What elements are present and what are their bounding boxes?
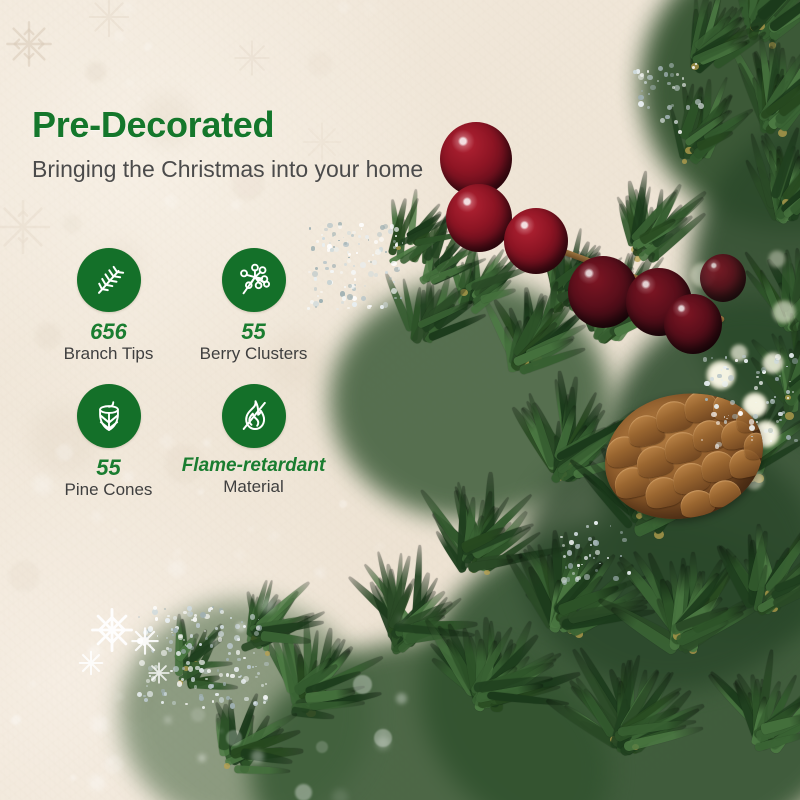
- glitter-speck: [775, 358, 779, 362]
- glitter-speck: [613, 576, 618, 581]
- glitter-speck: [756, 371, 760, 375]
- pine-needle: [470, 277, 514, 315]
- pine-needle: [473, 254, 511, 299]
- pine-needle: [764, 552, 800, 609]
- glitter-speck: [230, 703, 236, 709]
- glitter-speck: [670, 73, 674, 77]
- pine-needle: [554, 391, 600, 478]
- pine-needle: [683, 600, 698, 651]
- glitter-speck: [768, 428, 773, 433]
- pine-needle: [750, 427, 761, 479]
- pine-needle: [585, 258, 598, 318]
- pine-needle: [240, 714, 272, 765]
- pine-needle: [633, 722, 688, 748]
- pine-needle: [513, 294, 551, 359]
- pine-needle: [566, 678, 622, 741]
- pine-needle: [738, 420, 757, 468]
- glitter-speck: [215, 693, 219, 697]
- pine-needle: [764, 75, 800, 136]
- pine-needle: [607, 285, 670, 322]
- pine-needle: [470, 524, 523, 560]
- pine-needle: [554, 405, 580, 461]
- glitter-speck: [255, 676, 258, 679]
- glitter-speck: [562, 580, 567, 585]
- glitter-speck: [309, 227, 312, 230]
- glitter-speck: [204, 630, 206, 632]
- pine-needle: [749, 404, 788, 461]
- pine-needle: [614, 195, 648, 250]
- snow-dot: [102, 205, 106, 209]
- pine-needle: [738, 425, 761, 482]
- glitter-speck: [599, 563, 601, 565]
- pine-needle: [629, 699, 658, 754]
- glitter-speck: [161, 689, 164, 692]
- glitter-speck: [374, 273, 379, 278]
- pine-needle: [693, 6, 728, 70]
- pine-needle: [608, 297, 655, 337]
- glitter-speck: [396, 242, 398, 244]
- pine-needle: [703, 6, 741, 66]
- glitter-speck: [316, 240, 319, 243]
- pine-needle: [544, 554, 565, 629]
- pine-needle: [304, 669, 361, 696]
- pine-needle: [469, 520, 514, 570]
- pine-needle: [392, 553, 405, 640]
- snow-dot: [11, 715, 21, 725]
- pine-needle: [649, 189, 709, 244]
- pine-needle: [575, 595, 629, 636]
- glitter-speck: [188, 666, 193, 671]
- pine-needle: [763, 74, 788, 122]
- pine-needle: [429, 260, 474, 285]
- pine-needle: [637, 231, 675, 262]
- pine-needle: [614, 464, 644, 511]
- glitter-speck: [167, 615, 169, 617]
- glitter-speck: [701, 439, 703, 441]
- glitter-speck: [565, 566, 568, 569]
- glitter-speck: [368, 239, 370, 241]
- glitter-speck: [220, 611, 222, 613]
- pine-needle: [523, 589, 573, 629]
- glitter-speck: [176, 651, 181, 656]
- pine-needle: [692, 37, 751, 67]
- pine-needle: [616, 554, 681, 632]
- pine-needle: [691, 602, 748, 634]
- pine-needle: [612, 252, 636, 321]
- pine-needle: [549, 255, 593, 292]
- glitter-speck: [255, 666, 257, 668]
- berry-stem: [488, 205, 536, 265]
- pine-needle: [756, 0, 800, 21]
- glitter-speck: [181, 678, 184, 681]
- pine-needle: [785, 269, 800, 319]
- pine-needle: [691, 97, 730, 162]
- pine-needle: [424, 225, 435, 272]
- glitter-speck: [148, 666, 153, 671]
- glitter-speck: [578, 544, 580, 546]
- pine-needle: [572, 420, 618, 480]
- pine-needle: [764, 551, 800, 604]
- pine-needle: [743, 415, 800, 467]
- pine-needle: [764, 56, 800, 117]
- pine-needle: [572, 407, 639, 468]
- pine-needle: [709, 23, 749, 63]
- pine-needle: [254, 580, 311, 632]
- pine-needle: [770, 0, 787, 39]
- pine-needle: [452, 486, 489, 565]
- pine-needle: [695, 10, 710, 61]
- pine-needle: [635, 208, 662, 258]
- pine-needle: [250, 609, 316, 643]
- pine-needle: [475, 639, 488, 698]
- glitter-speck: [139, 660, 145, 666]
- glitter-speck: [358, 235, 362, 239]
- glitter-speck: [572, 572, 575, 575]
- glitter-speck: [593, 557, 595, 559]
- pine-needle: [403, 571, 434, 643]
- feature-row: 55 Pine Cones Flame-retardant Material: [36, 384, 326, 500]
- glitter-speck: [338, 225, 342, 229]
- pine-needle: [761, 673, 799, 739]
- glitter-speck: [567, 550, 573, 556]
- pine-needle: [189, 680, 238, 691]
- glitter-speck: [147, 691, 152, 696]
- pine-needle: [680, 85, 697, 139]
- pine-needle: [419, 261, 452, 285]
- pine-needle: [678, 558, 693, 632]
- pine-needle: [429, 655, 480, 697]
- pine-needle: [471, 271, 512, 305]
- glitter-speck: [775, 377, 779, 381]
- pine-needle: [615, 669, 677, 750]
- pine-needle: [754, 0, 800, 25]
- glitter-speck: [264, 662, 268, 666]
- glitter-speck: [238, 676, 240, 678]
- snow-dot: [124, 22, 129, 27]
- pine-needle: [477, 683, 560, 709]
- pine-needle: [240, 748, 293, 767]
- pine-needle: [407, 189, 419, 245]
- pine-needle: [780, 143, 800, 205]
- pine-cone-icon: [90, 397, 128, 435]
- pine-needle: [684, 95, 705, 140]
- pine-needle: [524, 564, 562, 629]
- glitter-speck: [348, 257, 350, 259]
- pine-needle: [695, 5, 736, 58]
- glitter-speck: [263, 695, 268, 700]
- pine-needle: [243, 723, 284, 763]
- pine-needle: [677, 570, 708, 642]
- pine-needle: [684, 108, 733, 146]
- pine-needle: [422, 248, 436, 283]
- pine-needle: [691, 32, 749, 64]
- glitter-speck: [199, 668, 204, 673]
- glitter-speck: [394, 227, 399, 232]
- pine-needle: [754, 729, 800, 752]
- pine-needle: [250, 592, 282, 637]
- glitter-speck: [581, 564, 583, 566]
- glitter-speck: [775, 354, 781, 360]
- pine-needle: [731, 443, 780, 485]
- glitter-speck: [394, 267, 400, 273]
- pine-needle: [602, 273, 618, 340]
- snow-dot: [121, 1, 134, 14]
- pine-needle: [466, 259, 477, 304]
- pine-needle: [533, 543, 566, 627]
- pine-needle: [775, 158, 784, 207]
- pine-needle: [689, 120, 705, 159]
- pine-needle: [766, 45, 781, 120]
- pine-needle: [670, 596, 712, 647]
- pine-needle: [291, 700, 364, 712]
- glitter-speck: [230, 617, 232, 619]
- glitter-speck: [261, 684, 263, 686]
- pine-needle: [420, 290, 429, 329]
- pine-needle: [779, 61, 800, 115]
- pine-needle: [768, 676, 800, 755]
- pine-needle: [395, 577, 440, 649]
- pine-needle: [425, 281, 434, 322]
- pine-needle: [605, 443, 639, 525]
- glitter-speck: [726, 418, 728, 420]
- pine-needle: [473, 253, 499, 298]
- glitter-speck: [193, 617, 197, 621]
- pine-needle: [645, 206, 656, 247]
- pine-needle: [605, 247, 640, 330]
- pine-needle: [751, 696, 769, 746]
- pine-needle: [608, 463, 648, 521]
- pine-needle: [515, 313, 578, 365]
- glitter-speck: [711, 357, 713, 359]
- glitter-speck: [563, 555, 566, 558]
- red-berry: [504, 208, 568, 274]
- red-berry: [700, 254, 746, 302]
- glitter-speck: [644, 81, 647, 84]
- pine-needle: [761, 63, 771, 117]
- snow-dot: [198, 754, 206, 762]
- glitter-speck: [144, 698, 148, 702]
- glitter-speck: [753, 414, 758, 419]
- pine-needle: [639, 186, 652, 242]
- glitter-speck: [367, 305, 371, 309]
- pine-needle: [767, 172, 784, 222]
- silver-glitter-tip: [136, 610, 256, 705]
- pine-needle: [460, 495, 512, 571]
- glitter-speck: [774, 359, 779, 364]
- pine-needle: [585, 457, 644, 519]
- glitter-speck: [155, 617, 158, 620]
- pine-needle: [756, 680, 783, 733]
- pine-needle: [174, 631, 202, 663]
- glitter-speck: [183, 611, 187, 615]
- glitter-speck: [724, 416, 726, 418]
- pine-needle: [613, 261, 647, 321]
- red-berry: [664, 294, 722, 354]
- glitter-speck: [170, 670, 173, 673]
- pine-needle: [635, 468, 695, 516]
- glitter-speck: [168, 648, 172, 652]
- pine-needle: [666, 560, 690, 649]
- pine-needle: [593, 281, 604, 340]
- pine-needle: [287, 640, 323, 706]
- pine-needle: [270, 634, 297, 694]
- glitter-speck: [185, 703, 187, 705]
- pine-needle: [732, 425, 744, 474]
- pine-needle: [611, 274, 661, 332]
- pine-needle: [777, 347, 796, 407]
- glitter-speck: [343, 237, 344, 238]
- pine-needle: [762, 0, 775, 29]
- glitter-speck: [774, 396, 776, 398]
- pine-needle: [731, 430, 769, 467]
- pine-needle: [755, 165, 788, 216]
- glitter-speck: [340, 271, 343, 274]
- glitter-speck: [219, 697, 225, 703]
- pine-needle: [772, 567, 800, 610]
- glitter-speck: [620, 555, 622, 557]
- pine-needle: [743, 250, 791, 318]
- pine-needle: [493, 669, 581, 706]
- glitter-speck: [759, 381, 764, 386]
- pine-needle: [764, 257, 800, 312]
- glitter-speck: [211, 684, 214, 687]
- pine-needle: [743, 424, 754, 481]
- glitter-speck: [175, 626, 179, 630]
- pine-needle: [399, 217, 449, 246]
- pine-needle: [481, 262, 520, 304]
- pine-needle: [227, 699, 238, 756]
- glitter-speck: [352, 287, 356, 291]
- feature-pine-cones: 55 Pine Cones: [36, 384, 181, 500]
- glitter-speck: [669, 63, 674, 68]
- pine-needle: [477, 509, 531, 573]
- glitter-speck: [338, 222, 342, 226]
- pine-needle: [633, 502, 696, 538]
- pine-needle: [480, 617, 499, 700]
- pine-needle: [713, 6, 744, 49]
- pine-needle: [695, 110, 723, 162]
- glitter-speck: [173, 628, 178, 633]
- glitter-speck: [253, 652, 255, 654]
- pine-needle: [769, 333, 800, 391]
- glitter-speck: [256, 626, 259, 629]
- pine-needle: [760, 0, 769, 25]
- pine-needle: [465, 635, 493, 709]
- pine-needle: [388, 555, 413, 629]
- pine-needle: [716, 543, 763, 603]
- glitter-speck: [182, 667, 185, 670]
- glitter-speck: [682, 77, 684, 79]
- snowflake-icon: [128, 624, 162, 658]
- pine-needle: [766, 59, 800, 123]
- pine-needle: [689, 27, 720, 68]
- pine-needle: [573, 264, 636, 310]
- pine-needle: [623, 723, 704, 752]
- pine-needle: [691, 10, 700, 71]
- glitter-speck: [672, 86, 675, 89]
- pine-needle: [748, 530, 771, 592]
- glitter-speck: [724, 420, 728, 424]
- glitter-speck: [385, 271, 388, 274]
- pine-needle: [430, 212, 452, 260]
- pine-needle: [755, 68, 771, 134]
- glitter-speck: [636, 69, 641, 74]
- pine-needle: [406, 627, 460, 644]
- glitter-speck: [721, 369, 723, 371]
- pine-needle: [245, 745, 304, 759]
- glitter-speck: [641, 90, 643, 92]
- pine-needle: [648, 188, 680, 242]
- glitter-speck: [166, 637, 168, 639]
- background-snowflake-icon: [86, 0, 132, 40]
- glitter-speck: [716, 421, 720, 425]
- pine-needle: [616, 202, 638, 247]
- pine-needle: [375, 576, 407, 634]
- glitter-speck: [660, 118, 665, 123]
- pine-needle: [762, 85, 781, 132]
- glitter-speck: [674, 85, 680, 91]
- feature-label: Material: [223, 477, 283, 497]
- pine-needle: [428, 276, 453, 337]
- pine-needle: [524, 322, 587, 359]
- pine-needle: [671, 610, 723, 636]
- pine-needle: [753, 0, 790, 24]
- pine-needle: [786, 277, 800, 333]
- feature-value: Flame-retardant: [182, 456, 326, 476]
- pine-needle: [396, 219, 407, 260]
- pine-needle: [778, 166, 800, 225]
- pine-needle: [794, 291, 800, 323]
- pine-needle: [488, 655, 559, 706]
- glitter-speck: [143, 695, 146, 698]
- pine-needle: [649, 211, 659, 261]
- pine-needle: [524, 543, 567, 615]
- pine-needle: [578, 717, 637, 756]
- pine-needle: [784, 343, 800, 397]
- pine-needle: [690, 0, 712, 61]
- glitter-speck: [640, 73, 644, 77]
- pine-needle: [761, 689, 800, 732]
- pine-needle: [757, 686, 768, 742]
- pine-needle: [301, 616, 314, 693]
- pine-needle: [262, 610, 268, 652]
- pine-needle: [560, 269, 604, 328]
- pine-needle: [487, 621, 496, 687]
- pine-needle: [243, 744, 283, 760]
- pine-needle: [417, 488, 473, 561]
- pine-needle: [789, 289, 800, 333]
- glitter-speck: [402, 242, 404, 244]
- glitter-speck: [360, 262, 366, 268]
- pine-needle: [712, 29, 768, 70]
- pine-needle: [763, 60, 786, 125]
- glitter-speck: [766, 401, 769, 404]
- snow-dot: [92, 512, 102, 522]
- glitter-speck: [380, 225, 385, 230]
- pine-needle: [432, 225, 440, 275]
- glitter-speck: [333, 246, 335, 248]
- glitter-speck: [383, 302, 388, 307]
- glitter-speck: [205, 637, 208, 640]
- glitter-speck: [584, 556, 588, 560]
- glitter-speck: [322, 237, 324, 239]
- pine-needle: [526, 392, 557, 468]
- glitter-speck: [256, 625, 261, 630]
- pine-needle: [213, 713, 230, 757]
- glitter-speck: [199, 696, 204, 701]
- glitter-speck: [215, 627, 218, 630]
- glitter-speck: [779, 375, 781, 377]
